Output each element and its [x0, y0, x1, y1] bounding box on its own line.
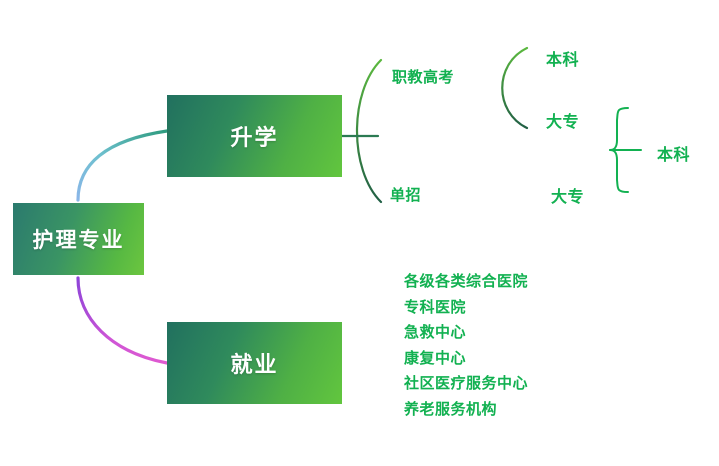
mindmap-canvas: 护理专业 升学 就业 职教高考 单招 本科 大专 大专 本科 各级各类综合医院 …: [0, 0, 719, 466]
leaf-benke-top[interactable]: 本科: [546, 46, 579, 70]
leaf-benke-merged[interactable]: 本科: [657, 141, 690, 165]
connector-root-to-employment: [78, 278, 167, 363]
employment-target-item[interactable]: 急救中心: [404, 325, 528, 342]
root-node-nursing-major[interactable]: 护理专业: [13, 203, 144, 275]
branch-node-further-study-label: 升学: [230, 120, 278, 152]
branch-node-employment-label: 就业: [230, 347, 278, 379]
brace-vocational-exam: [502, 48, 527, 128]
employment-target-item[interactable]: 康复中心: [404, 351, 528, 368]
brace-further-study: [357, 60, 381, 202]
leaf-dazhuan-top[interactable]: 大专: [546, 108, 579, 132]
employment-target-list: 各级各类综合医院 专科医院 急救中心 康复中心 社区医疗服务中心 养老服务机构: [404, 274, 528, 418]
branch-node-employment[interactable]: 就业: [167, 322, 342, 404]
leaf-dazhuan-bottom[interactable]: 大专: [551, 183, 584, 207]
leaf-single-admission[interactable]: 单招: [390, 184, 421, 205]
employment-target-item[interactable]: 养老服务机构: [404, 402, 528, 419]
leaf-vocational-exam[interactable]: 职教高考: [392, 66, 454, 87]
brace-merge-to-benke: [610, 108, 628, 192]
root-node-label: 护理专业: [33, 224, 125, 254]
connector-root-to-further-study: [78, 131, 167, 200]
employment-target-item[interactable]: 专科医院: [404, 300, 528, 317]
branch-node-further-study[interactable]: 升学: [167, 95, 342, 177]
employment-target-item[interactable]: 各级各类综合医院: [404, 274, 528, 291]
employment-target-item[interactable]: 社区医疗服务中心: [404, 376, 528, 393]
